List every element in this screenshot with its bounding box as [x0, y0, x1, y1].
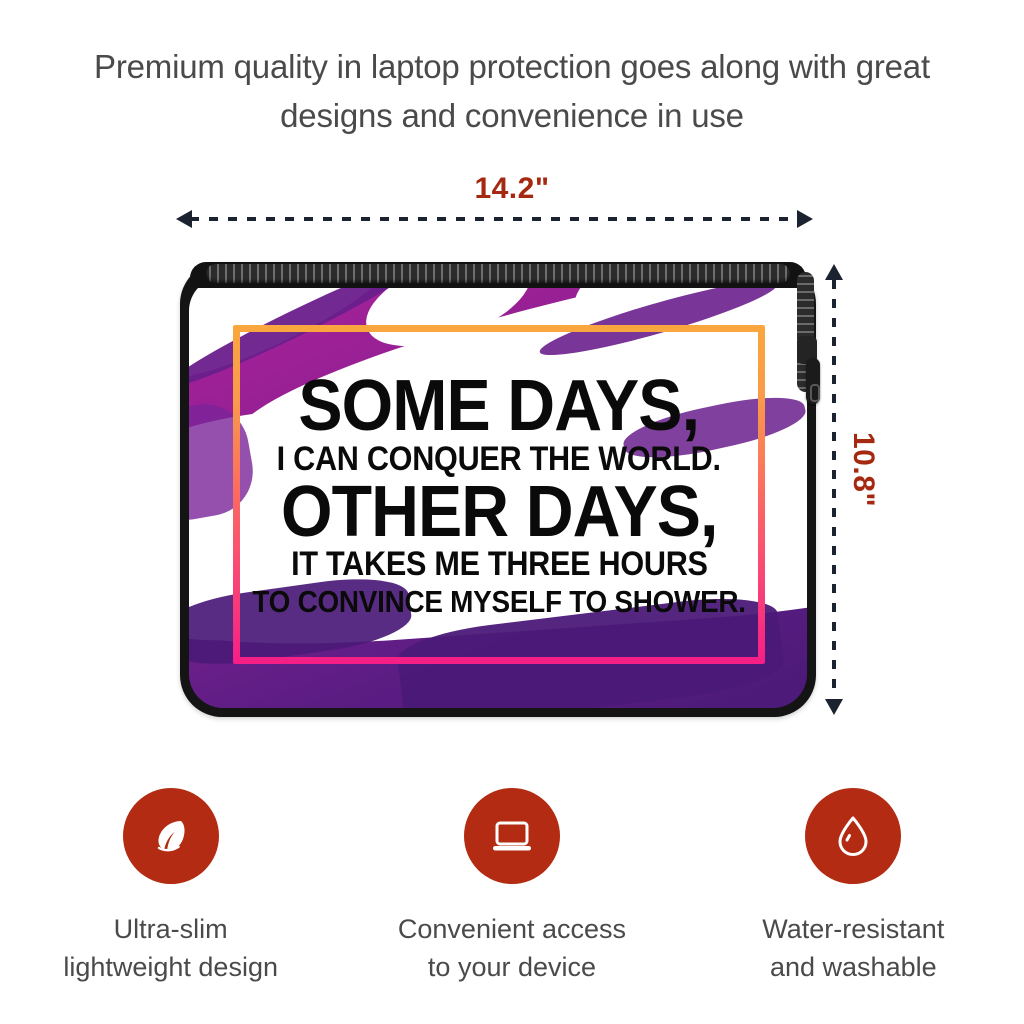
quote-line-1: SOME DAYS, — [299, 376, 700, 438]
headline-line-2: designs and convenience in use — [0, 91, 1024, 140]
arrow-left-icon — [176, 210, 192, 228]
zipper-pull-icon — [806, 358, 820, 404]
sleeve-printed-face: SOME DAYS, I CAN CONQUER THE WORLD. OTHE… — [189, 277, 807, 708]
feature-item: Water-resistant and washable — [703, 788, 1003, 986]
zipper-teeth — [206, 264, 790, 283]
feature-caption-line-2: and washable — [762, 948, 944, 986]
feature-caption-line-2: lightweight design — [63, 948, 278, 986]
printed-quote: SOME DAYS, I CAN CONQUER THE WORLD. OTHE… — [239, 339, 759, 660]
water-drop-icon — [805, 788, 901, 884]
feature-caption-line-1: Ultra-slim — [63, 910, 278, 948]
feature-item: Convenient access to your device — [362, 788, 662, 986]
feature-caption: Ultra-slim lightweight design — [63, 910, 278, 986]
feature-caption-line-1: Water-resistant — [762, 910, 944, 948]
feather-icon — [123, 788, 219, 884]
headline-line-1: Premium quality in laptop protection goe… — [0, 42, 1024, 91]
page-title: Premium quality in laptop protection goe… — [0, 42, 1024, 140]
laptop-sleeve-product: SOME DAYS, I CAN CONQUER THE WORLD. OTHE… — [180, 262, 816, 717]
height-dimension-label: 10.8" — [846, 432, 880, 507]
height-dimension-line — [832, 280, 836, 698]
quote-line-4: IT TAKES ME THREE HOURS — [291, 547, 708, 582]
arrow-up-icon — [825, 264, 843, 280]
feature-caption: Water-resistant and washable — [762, 910, 944, 986]
quote-line-3: OTHER DAYS, — [281, 482, 717, 544]
product-infographic: Premium quality in laptop protection goe… — [0, 0, 1024, 1024]
laptop-icon — [464, 788, 560, 884]
feature-caption: Convenient access to your device — [398, 910, 626, 986]
feature-list: Ultra-slim lightweight design Convenient… — [0, 788, 1024, 986]
width-dimension-label: 14.2" — [0, 172, 1024, 206]
arrow-right-icon — [797, 210, 813, 228]
arrow-down-icon — [825, 699, 843, 715]
width-dimension-line — [190, 217, 800, 221]
feature-caption-line-1: Convenient access — [398, 910, 626, 948]
feature-item: Ultra-slim lightweight design — [21, 788, 321, 986]
quote-line-5: TO CONVINCE MYSELF TO SHOWER. — [252, 586, 745, 618]
feature-caption-line-2: to your device — [398, 948, 626, 986]
quote-line-2: I CAN CONQUER THE WORLD. — [277, 442, 721, 477]
